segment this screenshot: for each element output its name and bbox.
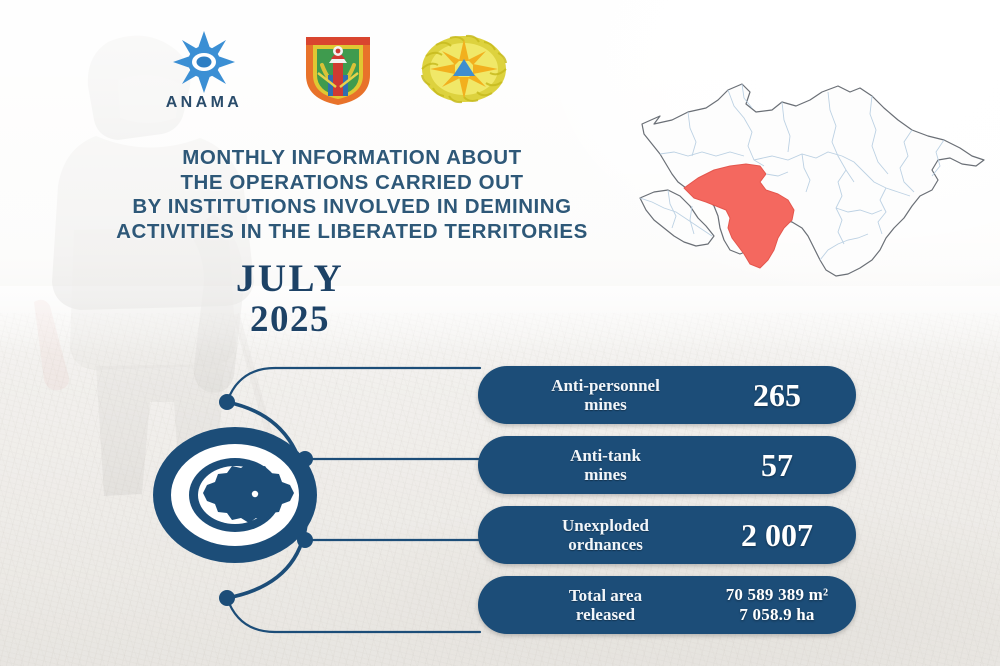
stat-label: Anti-tank mines xyxy=(498,446,713,484)
landmine-target-icon xyxy=(150,425,320,565)
report-month: JULY xyxy=(120,258,460,300)
anama-wordmark: ANAMA xyxy=(150,94,258,112)
emblem-row: ANAMA xyxy=(150,28,530,114)
stat-row-anti-tank-mines[interactable]: Anti-tank mines 57 xyxy=(478,436,856,494)
stat-value: 57 xyxy=(706,448,848,482)
stat-label: Unexploded ordnances xyxy=(498,516,713,554)
stat-label-line-2: ordnances xyxy=(498,535,713,554)
connector-node-1 xyxy=(219,394,235,410)
defence-shield-icon xyxy=(300,29,376,109)
stat-value: 2 007 xyxy=(706,518,848,552)
report-year: 2025 xyxy=(120,300,460,340)
stat-row-total-area-released[interactable]: Total area released 70 589 389 m² 7 058.… xyxy=(478,576,856,634)
report-period: JULY 2025 xyxy=(120,258,460,340)
emergency-wreath-star-icon xyxy=(418,29,510,109)
connector-node-4 xyxy=(219,590,235,606)
stat-value-line-1: 70 589 389 m² xyxy=(706,585,848,605)
ministry-of-defence-emblem xyxy=(300,29,376,114)
page-title: MONTHLY INFORMATION ABOUT THE OPERATIONS… xyxy=(62,146,642,244)
stat-label-line-1: Anti-personnel xyxy=(498,376,713,395)
stat-label-line-1: Total area xyxy=(498,586,713,605)
headline-line-1: MONTHLY INFORMATION ABOUT xyxy=(62,146,642,171)
stat-label-line-2: mines xyxy=(498,465,713,484)
stat-value-line-2: 7 058.9 ha xyxy=(706,605,848,625)
azerbaijan-map xyxy=(632,78,988,290)
stat-value: 265 xyxy=(706,378,848,412)
stat-row-unexploded-ordnances[interactable]: Unexploded ordnances 2 007 xyxy=(478,506,856,564)
infographic-poster: ANAMA xyxy=(0,0,1000,666)
anama-logo: ANAMA xyxy=(150,28,258,114)
stat-label: Anti-personnel mines xyxy=(498,376,713,414)
stat-label-line-2: released xyxy=(498,605,713,624)
headline-line-3: BY INSTITUTIONS INVOLVED IN DEMINING xyxy=(62,195,642,220)
stat-label-line-2: mines xyxy=(498,395,713,414)
stat-label: Total area released xyxy=(498,586,713,624)
statistics-list: Anti-personnel mines 265 Anti-tank mines… xyxy=(478,366,856,646)
stat-row-anti-personnel-mines[interactable]: Anti-personnel mines 265 xyxy=(478,366,856,424)
stat-value: 70 589 389 m² 7 058.9 ha xyxy=(706,585,848,625)
headline-line-2: THE OPERATIONS CARRIED OUT xyxy=(62,171,642,196)
stat-label-line-1: Anti-tank xyxy=(498,446,713,465)
stat-label-line-1: Unexploded xyxy=(498,516,713,535)
ministry-of-emergency-situations-emblem xyxy=(418,29,510,114)
headline-line-4: ACTIVITIES IN THE LIBERATED TERRITORIES xyxy=(62,220,642,245)
